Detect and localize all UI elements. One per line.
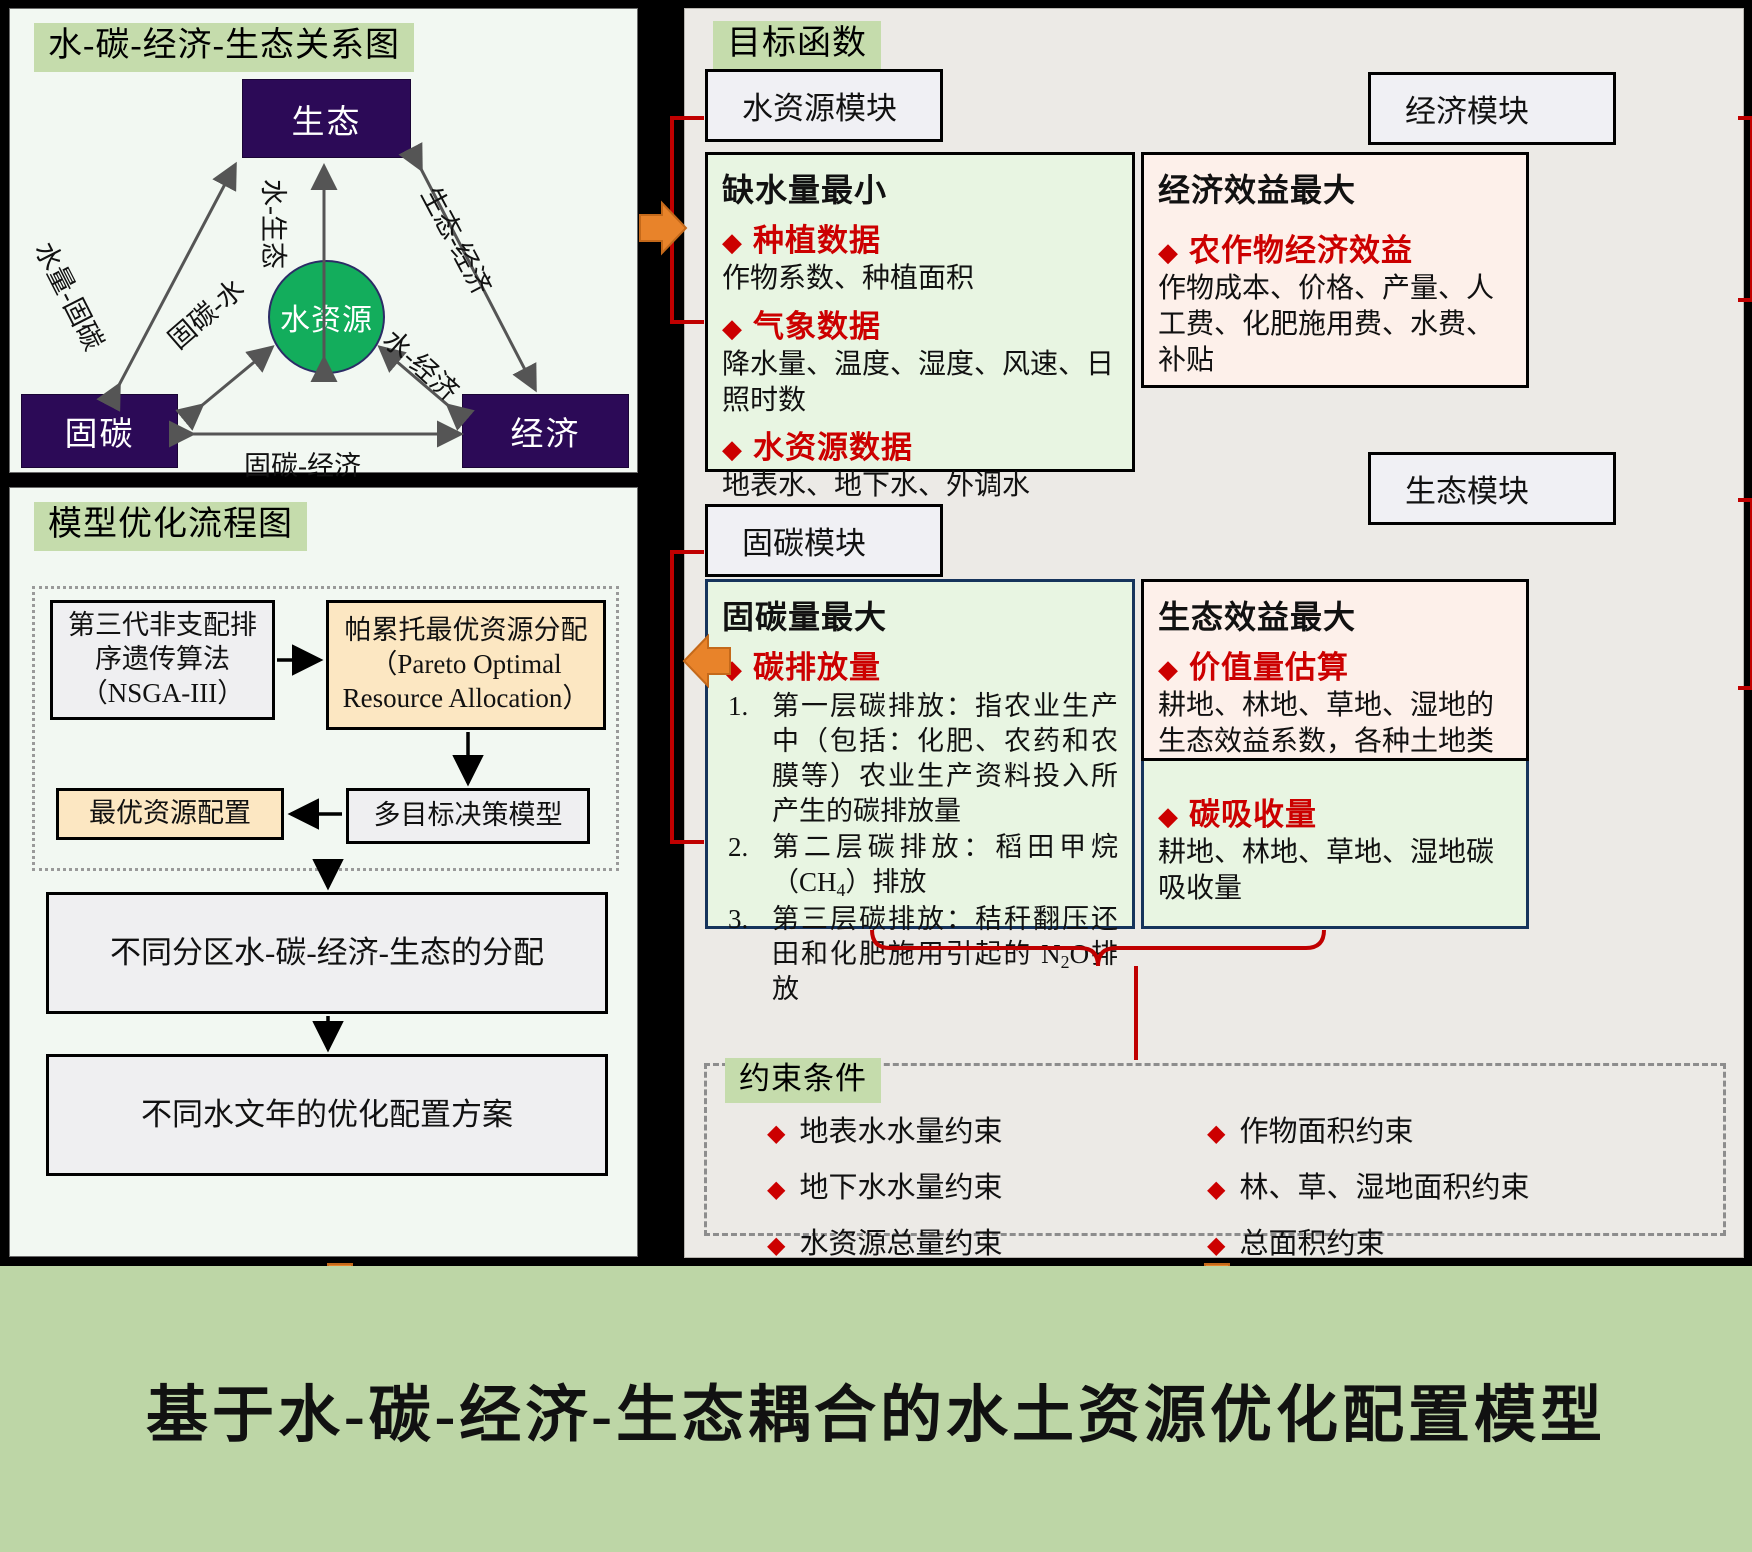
relation-panel-title: 水-碳-经济-生态关系图 bbox=[34, 23, 414, 72]
diagram-root: 水-碳-经济-生态关系图 生态 固碳 经济 水资源 bbox=[0, 0, 1752, 1552]
constraint-item: ◆水资源总量约束 bbox=[767, 1220, 1207, 1262]
diamond-icon: ◆ bbox=[767, 1177, 785, 1203]
diamond-icon: ◆ bbox=[1207, 1233, 1225, 1259]
constraint-item: ◆作物面积约束 bbox=[1207, 1108, 1707, 1150]
objective-ecology-group-0-label: ◆价值量估算 bbox=[1158, 642, 1512, 687]
diamond-icon: ◆ bbox=[767, 1121, 785, 1147]
diamond-icon: ◆ bbox=[767, 1233, 785, 1259]
carbon-absorb-label: ◆碳吸收量 bbox=[1158, 789, 1512, 834]
diamond-icon: ◆ bbox=[722, 314, 743, 343]
objective-ecology-box: 生态效益最大 ◆价值量估算 耕地、林地、草地、湿地的生态效益系数，各种土地类型面… bbox=[1141, 579, 1529, 761]
diamond-icon: ◆ bbox=[1158, 238, 1179, 267]
list-item: 2.第二层碳排放：稻田甲烷（CH4）排放 bbox=[722, 830, 1118, 900]
bottom-banner-title: 基于水-碳-经济-生态耦合的水土资源优化配置模型 bbox=[146, 1364, 1606, 1454]
objective-carbon-absorb-box: ◆碳吸收量 耕地、林地、草地、湿地碳吸收量 bbox=[1141, 761, 1529, 929]
objective-carbon-box: 固碳量最大 ◆碳排放量 1.第一层碳排放：指农业生产中（包括：化肥、农药和农膜等… bbox=[705, 579, 1135, 929]
objective-water-group-2-detail: 地表水、地下水、外调水 bbox=[722, 468, 1118, 504]
bottom-banner: 基于水-碳-经济-生态耦合的水土资源优化配置模型 bbox=[0, 1266, 1752, 1552]
edge-label-carbon-econ: 固碳-经济 bbox=[244, 444, 361, 483]
module-ecology: 生态模块 bbox=[1368, 452, 1616, 525]
module-carbon: 固碳模块 bbox=[705, 504, 943, 577]
objective-water-heading: 缺水量最小 bbox=[722, 165, 1118, 211]
objective-carbon-list: 1.第一层碳排放：指农业生产中（包括：化肥、农药和农膜等）农业生产资料投入所产生… bbox=[722, 689, 1118, 1007]
objective-carbon-label: ◆碳排放量 bbox=[722, 642, 1118, 687]
relation-panel: 水-碳-经济-生态关系图 生态 固碳 经济 水资源 bbox=[9, 8, 638, 473]
objective-water-group-1-label: ◆气象数据 bbox=[722, 301, 1118, 346]
objective-economy-group-0-detail: 作物成本、价格、产量、人工费、化肥施用费、水费、补贴 bbox=[1158, 271, 1512, 378]
module-carbon-label: 固碳模块 bbox=[742, 518, 866, 563]
diamond-icon: ◆ bbox=[1158, 655, 1179, 684]
constraints-panel: 约束条件 ◆地表水水量约束 ◆作物面积约束 ◆地下水水量约束 ◆林、草、湿地面积… bbox=[704, 1063, 1726, 1236]
constraint-item: ◆地表水水量约束 bbox=[767, 1108, 1207, 1150]
list-item: 1.第一层碳排放：指农业生产中（包括：化肥、农药和农膜等）农业生产资料投入所产生… bbox=[722, 689, 1118, 829]
module-water: 水资源模块 bbox=[705, 69, 943, 142]
flow-panel: 模型优化流程图 第三代非支配排序遗传算法（NSGA-III） 帕累托最优资源分配… bbox=[9, 487, 638, 1257]
carbon-absorb-detail: 耕地、林地、草地、湿地碳吸收量 bbox=[1158, 835, 1512, 907]
objective-carbon-heading: 固碳量最大 bbox=[722, 592, 1118, 638]
module-economy-label: 经济模块 bbox=[1405, 86, 1529, 131]
diamond-icon: ◆ bbox=[1158, 802, 1179, 831]
constraint-item: ◆总面积约束 bbox=[1207, 1220, 1707, 1262]
diamond-icon: ◆ bbox=[1207, 1177, 1225, 1203]
objective-water-box: 缺水量最小 ◆种植数据 作物系数、种植面积 ◆气象数据 降水量、温度、湿度、风速… bbox=[705, 152, 1135, 472]
diamond-icon: ◆ bbox=[722, 655, 743, 684]
objective-water-group-2-label: ◆水资源数据 bbox=[722, 422, 1118, 467]
objective-economy-heading: 经济效益最大 bbox=[1158, 165, 1512, 211]
module-water-label: 水资源模块 bbox=[742, 83, 897, 128]
objective-water-group-0-detail: 作物系数、种植面积 bbox=[722, 261, 1118, 297]
module-economy: 经济模块 bbox=[1368, 72, 1616, 145]
diamond-icon: ◆ bbox=[1207, 1121, 1225, 1147]
objective-water-group-0-label: ◆种植数据 bbox=[722, 215, 1118, 260]
edge-label-water-eco: 水-生态 bbox=[256, 179, 295, 269]
objective-panel-title: 目标函数 bbox=[713, 21, 881, 70]
relation-triangle: 生态 固碳 经济 水资源 bbox=[10, 69, 639, 474]
constraint-item: ◆林、草、湿地面积约束 bbox=[1207, 1164, 1707, 1206]
constraints-panel-title: 约束条件 bbox=[725, 1058, 881, 1103]
objective-economy-group-0-label: ◆农作物经济效益 bbox=[1158, 225, 1512, 270]
diamond-icon: ◆ bbox=[722, 228, 743, 257]
diamond-icon: ◆ bbox=[722, 435, 743, 464]
list-item: 3.第三层碳排放：秸秆翻压还田和化肥施用引起的 N2O排放 bbox=[722, 902, 1118, 1007]
objective-water-group-1-detail: 降水量、温度、湿度、风速、日照时数 bbox=[722, 347, 1118, 419]
objective-economy-box: 经济效益最大 ◆农作物经济效益 作物成本、价格、产量、人工费、化肥施用费、水费、… bbox=[1141, 152, 1529, 388]
module-ecology-label: 生态模块 bbox=[1405, 466, 1529, 511]
constraint-item: ◆地下水水量约束 bbox=[767, 1164, 1207, 1206]
objective-ecology-heading: 生态效益最大 bbox=[1158, 592, 1512, 638]
